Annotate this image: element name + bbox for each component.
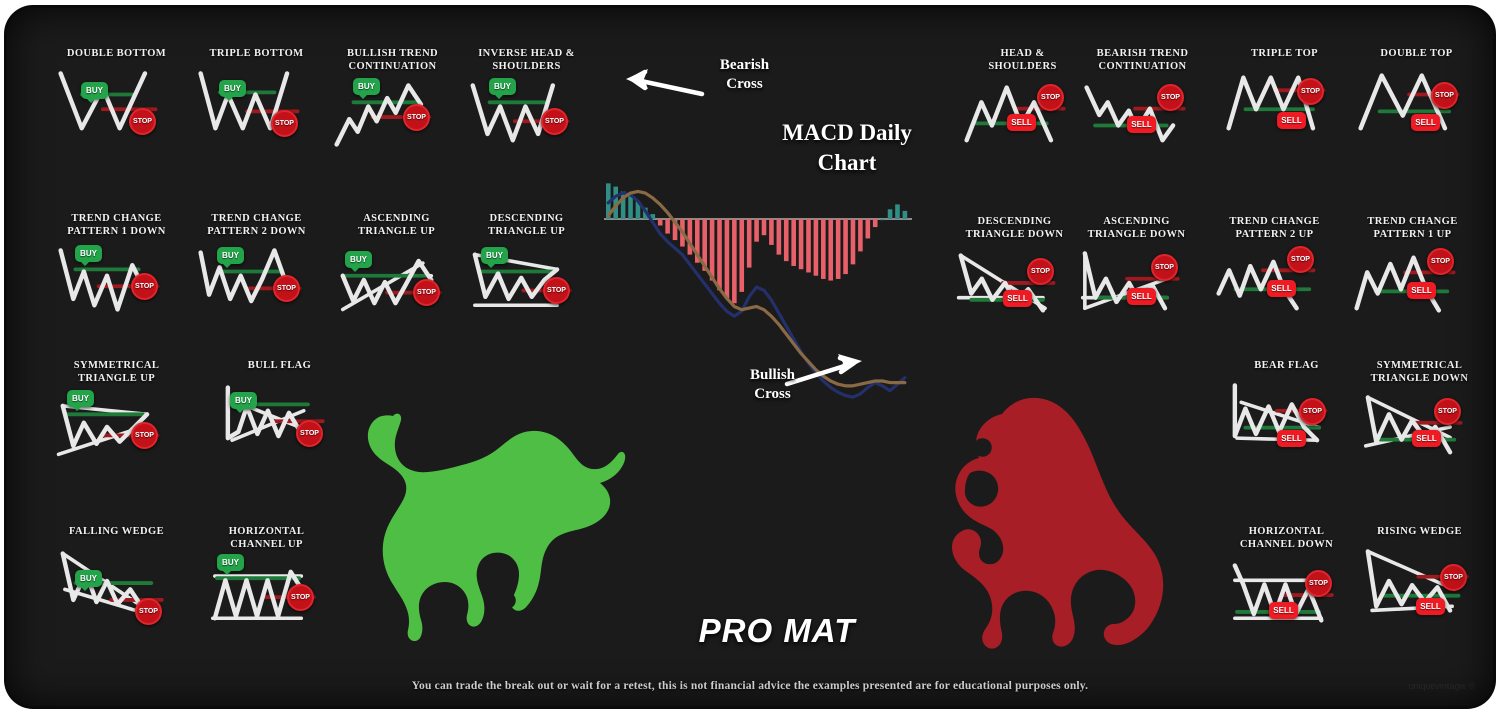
macd-histogram-bar — [769, 219, 774, 245]
pattern-diagram-descu — [459, 242, 594, 320]
macd-histogram-bar — [791, 219, 796, 266]
sell-badge[interactable]: SELL — [1127, 288, 1156, 305]
pattern-title: BEARISH TREND CONTINUATION — [1075, 48, 1210, 73]
macd-histogram-bar — [762, 219, 767, 235]
macd-histogram-bar — [851, 219, 856, 264]
bull-silhouette — [352, 410, 627, 642]
pattern-diagram-ihs — [459, 77, 594, 155]
buy-badge[interactable]: BUY — [81, 82, 108, 99]
stop-badge[interactable]: STOP — [131, 422, 158, 449]
macd-histogram-bar — [880, 219, 885, 220]
pattern-card-horizontal-channel-up[interactable]: HORIZONTAL CHANNEL UP BUYSTOP — [199, 526, 334, 633]
macd-histogram-bar — [836, 219, 841, 279]
pattern-card-bear-flag[interactable]: BEAR FLAG SELLSTOP — [1219, 360, 1354, 455]
pattern-card-trend-change-pattern-1-up[interactable]: TREND CHANGE PATTERN 1 UP SELLSTOP — [1345, 216, 1480, 323]
macd-histogram-bar — [725, 219, 730, 298]
macd-histogram-bar — [821, 219, 826, 279]
pattern-title: BEAR FLAG — [1219, 360, 1354, 373]
pattern-card-ascending-triangle-up[interactable]: ASCENDING TRIANGLE UP BUYSTOP — [329, 213, 464, 320]
pattern-card-inverse-head-and-shoulders[interactable]: INVERSE HEAD & SHOULDERS BUYSTOP — [459, 48, 594, 155]
pattern-title: BULL FLAG — [212, 360, 347, 373]
pattern-title: BULLISH TREND CONTINUATION — [325, 48, 460, 73]
pattern-card-horizontal-channel-down[interactable]: HORIZONTAL CHANNEL DOWN SELLSTOP — [1219, 526, 1354, 633]
macd-histogram-bar — [806, 219, 811, 272]
sell-badge[interactable]: SELL — [1277, 112, 1306, 129]
pattern-card-triple-top[interactable]: TRIPLE TOP SELLSTOP — [1217, 48, 1352, 143]
sell-badge[interactable]: SELL — [1416, 598, 1445, 615]
pattern-card-symmetrical-triangle-up[interactable]: SYMMETRICAL TRIANGLE UP BUYSTOP — [49, 360, 184, 467]
pattern-title: TREND CHANGE PATTERN 2 DOWN — [189, 213, 324, 238]
pattern-title: RISING WEDGE — [1352, 526, 1487, 539]
pattern-card-trend-change-pattern-1-down[interactable]: TREND CHANGE PATTERN 1 DOWN BUYSTOP — [49, 213, 184, 320]
buy-badge[interactable]: BUY — [217, 554, 244, 571]
stop-badge[interactable]: STOP — [1431, 82, 1458, 109]
pattern-diagram-hchand — [1219, 555, 1354, 633]
buy-badge[interactable]: BUY — [353, 78, 380, 95]
stop-badge[interactable]: STOP — [1427, 248, 1454, 275]
pattern-diagram-tc1d — [49, 242, 184, 320]
stop-badge[interactable]: STOP — [135, 598, 162, 625]
pattern-card-bearish-trend-continuation[interactable]: BEARISH TREND CONTINUATION SELLSTOP — [1075, 48, 1210, 155]
pattern-title: TRIPLE BOTTOM — [189, 48, 324, 61]
macd-histogram-bar — [895, 204, 900, 219]
buy-badge[interactable]: BUY — [489, 78, 516, 95]
pattern-card-double-top[interactable]: DOUBLE TOP SELLSTOP — [1349, 48, 1484, 143]
stop-badge[interactable]: STOP — [413, 279, 440, 306]
macd-histogram-bar — [903, 211, 908, 219]
pattern-diagram-tc2d — [189, 242, 324, 320]
pattern-title: DOUBLE BOTTOM — [49, 48, 184, 61]
stop-badge[interactable]: STOP — [273, 275, 300, 302]
pattern-diagram-fwedge — [49, 543, 184, 621]
pattern-title: SYMMETRICAL TRIANGLE UP — [49, 360, 184, 385]
sell-badge[interactable]: SELL — [1412, 430, 1441, 447]
stop-badge[interactable]: STOP — [1299, 398, 1326, 425]
pattern-card-head-and-shoulders[interactable]: HEAD & SHOULDERS SELLSTOP — [955, 48, 1090, 155]
pattern-card-bullish-trend-continuation[interactable]: BULLISH TREND CONTINUATION BUYSTOP — [325, 48, 460, 155]
macd-histogram-bar — [866, 219, 871, 238]
pattern-card-triple-bottom[interactable]: TRIPLE BOTTOM BUYSTOP — [189, 48, 324, 143]
sell-badge[interactable]: SELL — [1127, 116, 1156, 133]
stop-badge[interactable]: STOP — [1305, 570, 1332, 597]
macd-histogram-bar — [754, 219, 759, 242]
pattern-title: HEAD & SHOULDERS — [955, 48, 1090, 73]
pattern-diagram-descd — [947, 245, 1082, 323]
stop-badge[interactable]: STOP — [543, 277, 570, 304]
bearish-cross-arrow — [626, 69, 702, 94]
buy-badge[interactable]: BUY — [75, 245, 102, 262]
disclaimer-text: You can trade the break out or wait for … — [7, 680, 1493, 692]
stop-badge[interactable]: STOP — [403, 104, 430, 131]
stop-badge[interactable]: STOP — [1027, 258, 1054, 285]
macd-title: MACD Daily Chart — [782, 118, 912, 178]
sell-badge[interactable]: SELL — [1407, 282, 1436, 299]
pattern-diagram-m3 — [1217, 65, 1352, 143]
stop-badge[interactable]: STOP — [1151, 254, 1178, 281]
sell-badge[interactable]: SELL — [1267, 280, 1296, 297]
stop-badge[interactable]: STOP — [1157, 84, 1184, 111]
sell-badge[interactable]: SELL — [1269, 602, 1298, 619]
pattern-title: TREND CHANGE PATTERN 1 UP — [1345, 216, 1480, 241]
sell-badge[interactable]: SELL — [1003, 290, 1032, 307]
pattern-card-falling-wedge[interactable]: FALLING WEDGE BUYSTOP — [49, 526, 184, 621]
sell-badge[interactable]: SELL — [1411, 114, 1440, 131]
stop-badge[interactable]: STOP — [287, 584, 314, 611]
pattern-card-trend-change-pattern-2-down[interactable]: TREND CHANGE PATTERN 2 DOWN BUYSTOP — [189, 213, 324, 320]
pattern-title: DESCENDING TRIANGLE DOWN — [947, 216, 1082, 241]
pattern-title: FALLING WEDGE — [49, 526, 184, 539]
pattern-card-ascending-triangle-down[interactable]: ASCENDING TRIANGLE DOWN SELLSTOP — [1069, 216, 1204, 323]
stop-badge[interactable]: STOP — [296, 420, 323, 447]
pattern-diagram-symd — [1352, 389, 1487, 467]
macd-histogram-bar — [739, 219, 744, 292]
pattern-diagram-btc — [325, 77, 460, 155]
pattern-diagram-bullflag — [212, 377, 347, 455]
macd-histogram-bar — [688, 219, 693, 255]
pattern-title: TREND CHANGE PATTERN 1 DOWN — [49, 213, 184, 238]
buy-badge[interactable]: BUY — [217, 247, 244, 264]
pattern-title: INVERSE HEAD & SHOULDERS — [459, 48, 594, 73]
pattern-card-rising-wedge[interactable]: RISING WEDGE SELLSTOP — [1352, 526, 1487, 621]
stop-badge[interactable]: STOP — [129, 108, 156, 135]
pattern-title: TREND CHANGE PATTERN 2 UP — [1207, 216, 1342, 241]
macd-histogram-bar — [828, 219, 833, 281]
pattern-title: ASCENDING TRIANGLE UP — [329, 213, 464, 238]
buy-badge[interactable]: BUY — [481, 247, 508, 264]
pattern-title: SYMMETRICAL TRIANGLE DOWN — [1352, 360, 1487, 385]
pattern-diagram-ascd — [1069, 245, 1204, 323]
bear-silhouette — [947, 396, 1177, 651]
macd-histogram-bar — [873, 219, 878, 227]
pattern-card-descending-triangle-up[interactable]: DESCENDING TRIANGLE UP BUYSTOP — [459, 213, 594, 320]
macd-histogram-bar — [747, 219, 752, 268]
stop-badge[interactable]: STOP — [1440, 564, 1467, 591]
stop-badge[interactable]: STOP — [1287, 246, 1314, 273]
macd-histogram-bar — [888, 209, 893, 219]
pattern-title: ASCENDING TRIANGLE DOWN — [1069, 216, 1204, 241]
watermark-text: uniquevintagw ® — [1408, 681, 1475, 691]
buy-badge[interactable]: BUY — [345, 251, 372, 268]
macd-histogram-bar — [843, 219, 848, 274]
buy-badge[interactable]: BUY — [219, 80, 246, 97]
macd-histogram-bar — [777, 219, 782, 255]
sell-badge[interactable]: SELL — [1277, 430, 1306, 447]
stop-badge[interactable]: STOP — [1037, 84, 1064, 111]
pattern-title: HORIZONTAL CHANNEL DOWN — [1219, 526, 1354, 551]
brand-logo: PRO MAT — [662, 612, 892, 650]
pattern-card-trend-change-pattern-2-up[interactable]: TREND CHANGE PATTERN 2 UP SELLSTOP — [1207, 216, 1342, 323]
stop-badge[interactable]: STOP — [541, 108, 568, 135]
pattern-title: DOUBLE TOP — [1349, 48, 1484, 61]
stop-badge[interactable]: STOP — [1297, 78, 1324, 105]
buy-badge[interactable]: BUY — [67, 390, 94, 407]
macd-histogram-bar — [665, 219, 670, 234]
pattern-diagram-w2 — [49, 65, 184, 143]
bearish-cross-label: Bearish Cross — [697, 56, 792, 94]
pattern-card-symmetrical-triangle-down[interactable]: SYMMETRICAL TRIANGLE DOWN SELLSTOP — [1352, 360, 1487, 467]
stop-badge[interactable]: STOP — [1434, 398, 1461, 425]
macd-histogram-bar — [732, 219, 737, 303]
macd-histogram-bar — [858, 219, 863, 251]
pattern-card-double-bottom[interactable]: DOUBLE BOTTOM BUYSTOP — [49, 48, 184, 143]
buy-badge[interactable]: BUY — [75, 570, 102, 587]
buy-badge[interactable]: BUY — [230, 392, 257, 409]
macd-histogram-bar — [710, 219, 715, 281]
bullish-cross-label: Bullish Cross — [725, 366, 820, 404]
macd-histogram-bar — [717, 219, 722, 290]
macd-histogram-bar — [814, 219, 819, 276]
macd-histogram-bar — [628, 196, 633, 219]
macd-histogram-bar — [658, 219, 663, 225]
pattern-title: DESCENDING TRIANGLE UP — [459, 213, 594, 238]
pattern-title: TRIPLE TOP — [1217, 48, 1352, 61]
mousepad-surface: DOUBLE BOTTOM BUYSTOPTRIPLE BOTTOM BUYST… — [7, 8, 1493, 706]
pattern-card-bull-flag[interactable]: BULL FLAG BUYSTOP — [212, 360, 347, 455]
macd-histogram-bar — [784, 219, 789, 261]
pattern-card-descending-triangle-down[interactable]: DESCENDING TRIANGLE DOWN SELLSTOP — [947, 216, 1082, 323]
stop-badge[interactable]: STOP — [131, 273, 158, 300]
macd-histogram-bar — [799, 219, 804, 269]
pattern-title: HORIZONTAL CHANNEL UP — [199, 526, 334, 551]
pattern-diagram-w3 — [189, 65, 324, 143]
sell-badge[interactable]: SELL — [1007, 114, 1036, 131]
stop-badge[interactable]: STOP — [271, 110, 298, 137]
